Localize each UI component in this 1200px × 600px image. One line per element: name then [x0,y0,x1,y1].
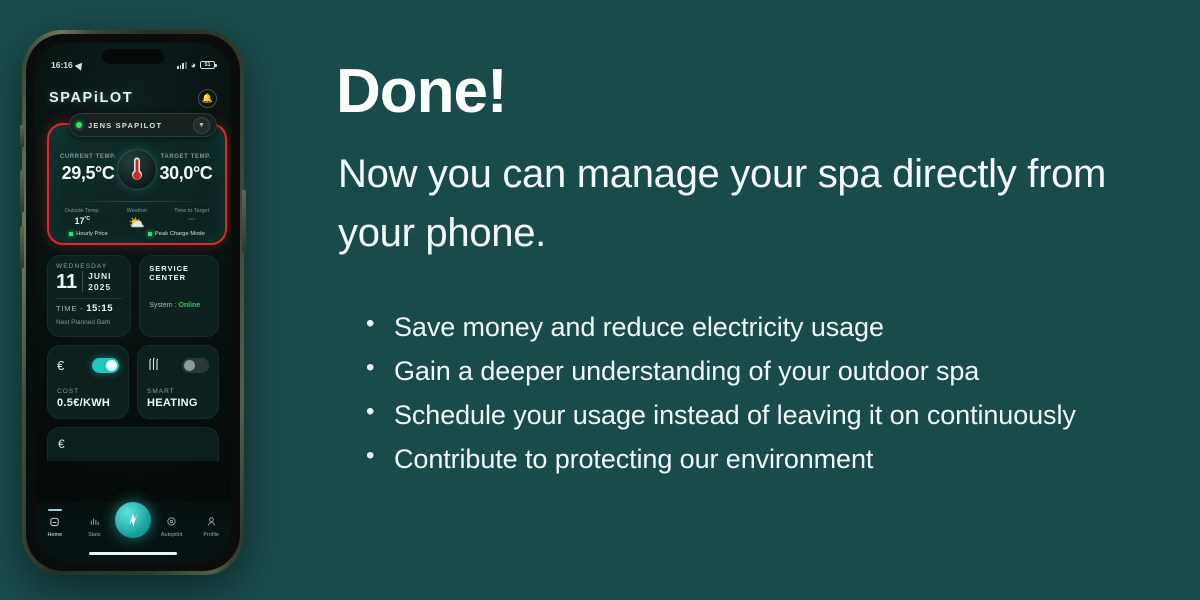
list-item: Save money and reduce electricity usage [358,305,1188,349]
date-card-divider [56,298,122,299]
autopilot-icon [153,516,191,530]
temperature-row: CURRENT TEMP. 29,5°C TARGET TEMP. [49,141,225,197]
time-line: TIME - 15:15 [56,303,122,314]
weather-label: Weather [110,208,165,214]
status-square-icon [69,232,73,236]
card-divider [65,201,209,202]
app-logo: SPAPiLOT [49,90,133,106]
service-center-card[interactable]: SERVICE CENTER System : Online [139,255,219,337]
service-center-title: SERVICE CENTER [149,264,209,282]
euro-icon: € [58,437,65,451]
peak-charge-flag: Peak Charge Mode [148,231,205,237]
hourly-price-flag: Hourly Price [69,231,108,237]
page-title: Done! [336,56,507,127]
nav-item-home[interactable]: Home [36,516,74,538]
toggles-row: € COST 0.5€/KWH [47,345,219,419]
device-selector[interactable]: JENS SPAPILOT ▼ [69,113,217,137]
outside-temp-value: 17°C [55,216,110,226]
cost-card-top: € [57,354,119,376]
phone-mute-switch[interactable] [20,125,24,147]
outside-temp-label: Outside Temp. [55,208,110,214]
app-logo-part1: SPAP [49,90,94,106]
cost-value: 0.5€/KWH [57,397,119,409]
nav-item-autopilot[interactable]: Autopilot [153,516,191,538]
date-card[interactable]: WEDNESDAY 11 JUNI 2025 TIME - 15:15 [47,255,131,337]
outside-temp-unit: °C [85,216,91,222]
month-label: JUNI [88,271,111,281]
date-line: 11 JUNI 2025 [56,271,122,292]
time-to-target-block: Time to Target --- [164,208,219,223]
app-logo-part3: LOT [99,90,133,106]
phone-volume-down-button[interactable] [20,226,24,268]
app-header: SPAPiLOT 🔔 [35,85,231,111]
phone-bezel: 16:16 ◕ 51 SPAPiLOT 🔔 [26,34,240,571]
cellular-signal-icon [177,61,186,69]
status-bar-time: 16:16 [51,60,73,70]
outside-temp-number: 17 [75,216,85,226]
time-value: 15:15 [86,303,113,314]
battery-icon: 51 [200,61,215,69]
heat-waves-icon [147,357,160,374]
status-bar-right: ◕ 51 [177,61,215,70]
cost-card[interactable]: € COST 0.5€/KWH [47,345,129,419]
wifi-icon: ◕ [191,61,196,70]
nav-label-stats: Stats [75,532,113,538]
system-status-label: System : [149,302,176,309]
home-indicator[interactable] [89,552,177,556]
time-to-target-value: --- [164,216,219,223]
status-bar-left: 16:16 [51,60,84,70]
cost-label: COST [57,388,119,395]
temp-card-flags: Hourly Price Peak Charge Mode [49,228,225,239]
peak-charge-label: Peak Charge Mode [155,231,205,237]
day-number: 11 [56,272,77,292]
nav-item-stats[interactable]: Stats [75,516,113,538]
benefits-list: Save money and reduce electricity usage … [358,305,1188,481]
phone-volume-up-button[interactable] [20,170,24,212]
date-service-row: WEDNESDAY 11 JUNI 2025 TIME - 15:15 [47,255,219,337]
spapilot-logo-icon[interactable] [115,502,151,538]
list-item: Contribute to protecting our environment [358,437,1188,481]
nav-label-autopilot: Autopilot [153,532,191,538]
hourly-price-label: Hourly Price [76,231,108,237]
content-panel: Done! Now you can manage your spa direct… [336,0,1196,600]
chevron-down-icon[interactable]: ▼ [193,117,210,134]
status-square-icon [148,232,152,236]
euro-icon: € [57,358,64,373]
battery-level: 51 [204,62,210,68]
home-icon [36,516,74,530]
system-status-value: Online [178,302,200,309]
stats-icon [75,516,113,530]
weather-block: Weather ⛅ [110,208,165,229]
smart-heating-card[interactable]: SMART HEATING [137,345,219,419]
bottom-navigation: Home Stats Auto [35,502,231,562]
time-to-target-label: Time to Target [164,208,219,214]
online-status-dot [76,122,82,128]
next-planned-bath-label: Next Planned Bath [56,319,122,326]
system-status-line: System : Online [149,302,209,309]
location-arrow-icon [74,60,85,70]
bell-icon[interactable]: 🔔 [198,89,217,108]
device-name: JENS SPAPILOT [88,121,187,130]
list-item: Gain a deeper understanding of your outd… [358,349,1188,393]
thermometer-icon [117,149,157,190]
month-year: JUNI 2025 [88,271,111,292]
cost-toggle[interactable] [92,358,119,373]
list-item: Schedule your usage instead of leaving i… [358,393,1188,437]
status-bar: 16:16 ◕ 51 [35,57,231,73]
smart-heating-card-top [147,354,209,376]
phone-power-button[interactable] [242,190,246,252]
temperature-card: JENS SPAPILOT ▼ CURRENT TEMP. 29,5°C [47,123,227,245]
target-temp-label: TARGET TEMP. [157,154,215,160]
profile-icon [192,516,230,530]
weekday-label: WEDNESDAY [56,263,122,270]
nav-item-profile[interactable]: Profile [192,516,230,538]
partial-bottom-card[interactable]: € [47,427,219,461]
smart-heating-toggle[interactable] [182,358,209,373]
current-temp-value: 29,5°C [59,163,117,184]
phone-screen: 16:16 ◕ 51 SPAPiLOT 🔔 [35,43,231,562]
nav-label-home: Home [36,532,74,538]
phone-frame: 16:16 ◕ 51 SPAPiLOT 🔔 [22,30,244,575]
outside-temp-block: Outside Temp. 17°C [55,208,110,226]
target-temp-block: TARGET TEMP. 30,0°C [157,154,215,184]
date-separator-bar [82,271,83,292]
current-temp-label: CURRENT TEMP. [59,154,117,160]
smart-heating-label: SMART [147,388,209,395]
year-label: 2025 [88,282,111,292]
time-label: TIME - [56,304,83,313]
phone-mockup: 16:16 ◕ 51 SPAPiLOT 🔔 [22,30,244,575]
page-subtitle: Now you can manage your spa directly fro… [338,145,1188,263]
current-temp-block: CURRENT TEMP. 29,5°C [59,154,117,184]
target-temp-value: 30,0°C [157,163,215,184]
nav-label-profile: Profile [192,532,230,538]
smart-heating-value: HEATING [147,397,209,409]
